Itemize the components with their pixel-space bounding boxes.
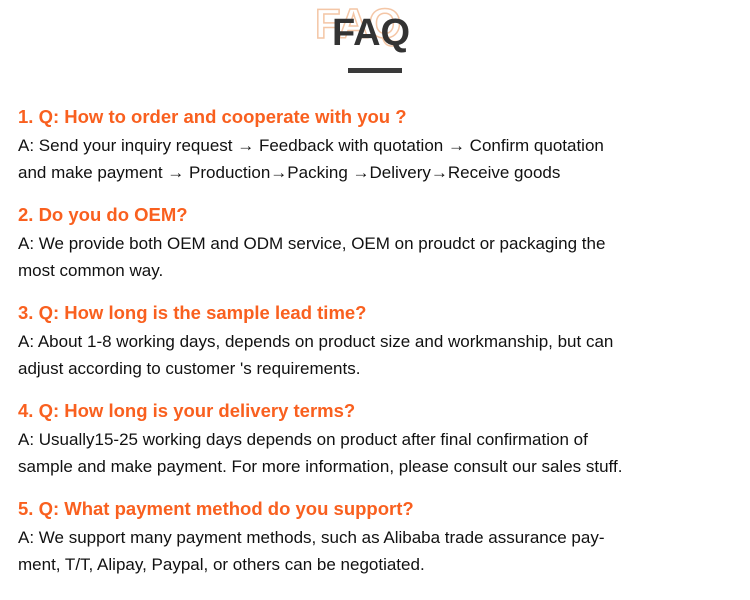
faq-title-group: FAQ FAQ xyxy=(0,0,750,62)
faq-question: 2. Do you do OEM? xyxy=(18,202,740,228)
faq-question: 4. Q: How long is your delivery terms? xyxy=(18,398,740,424)
faq-item: 1. Q: How to order and cooperate with yo… xyxy=(18,104,740,186)
faq-answer: A: About 1-8 working days, depends on pr… xyxy=(18,329,732,382)
faq-answer-line: ment, T/T, Alipay, Paypal, or others can… xyxy=(18,552,732,579)
faq-header: FAQ FAQ xyxy=(0,0,750,104)
page-title: FAQ xyxy=(332,14,410,52)
faq-answer-line: sample and make payment. For more inform… xyxy=(18,454,732,481)
faq-question: 3. Q: How long is the sample lead time? xyxy=(18,300,740,326)
faq-answer: A: Send your inquiry request → Feedback … xyxy=(18,133,732,186)
faq-answer-line: A: Send your inquiry request → Feedback … xyxy=(18,133,732,160)
faq-answer-line: A: We support many payment methods, such… xyxy=(18,525,732,552)
faq-answer: A: Usually15-25 working days depends on … xyxy=(18,427,732,480)
faq-item: 2. Do you do OEM? A: We provide both OEM… xyxy=(18,202,740,284)
faq-answer: A: We support many payment methods, such… xyxy=(18,525,732,578)
faq-answer-line: most common way. xyxy=(18,258,732,285)
faq-item: 4. Q: How long is your delivery terms? A… xyxy=(18,398,740,480)
faq-question: 5. Q: What payment method do you support… xyxy=(18,496,740,522)
faq-answer: A: We provide both OEM and ODM service, … xyxy=(18,231,732,284)
title-underline-bar xyxy=(348,68,402,73)
faq-page: FAQ FAQ 1. Q: How to order and cooperate… xyxy=(0,0,750,600)
faq-question: 1. Q: How to order and cooperate with yo… xyxy=(18,104,740,130)
faq-title-stack: FAQ FAQ xyxy=(315,0,435,60)
faq-title-rule-wrap xyxy=(0,68,750,73)
faq-answer-line: adjust according to customer 's requirem… xyxy=(18,356,732,383)
faq-answer-line: A: Usually15-25 working days depends on … xyxy=(18,427,732,454)
faq-list: 1. Q: How to order and cooperate with yo… xyxy=(0,104,750,578)
faq-answer-line: and make payment → Production→Packing →D… xyxy=(18,160,732,187)
faq-item: 3. Q: How long is the sample lead time? … xyxy=(18,300,740,382)
faq-answer-line: A: About 1-8 working days, depends on pr… xyxy=(18,329,732,356)
faq-answer-line: A: We provide both OEM and ODM service, … xyxy=(18,231,732,258)
faq-item: 5. Q: What payment method do you support… xyxy=(18,496,740,578)
